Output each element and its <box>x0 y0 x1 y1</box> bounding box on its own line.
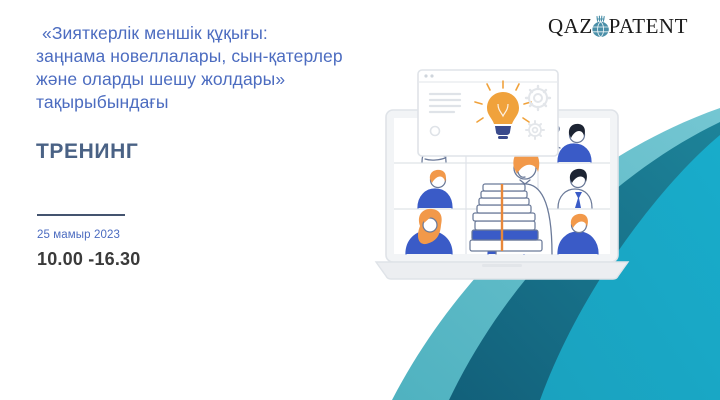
qazpatent-logo: QAZ PATENT <box>548 14 688 38</box>
logo-text-left: QAZ <box>548 16 593 37</box>
idea-browser-window <box>418 70 558 156</box>
title-line-2: заңнама новеллалары, сын-қатерлер <box>36 45 366 68</box>
shanyrak-globe-mark-icon <box>590 15 612 39</box>
event-type-heading: ТРЕНИНГ <box>36 140 138 164</box>
event-date: 25 мамыр 2023 <box>37 229 120 241</box>
title-line-3: және оларды шешу жолдары» <box>36 68 366 91</box>
logo-text-right: PATENT <box>609 16 688 37</box>
event-time: 10.00 -16.30 <box>37 249 140 270</box>
title-line-1: «Зияткерлік меншік құқығы: <box>36 22 366 45</box>
presentation-slide: QAZ PATENT <box>0 0 720 400</box>
window-dot-1 <box>424 74 427 77</box>
online-training-illustration <box>372 68 632 288</box>
title-line-4: тақырыбындағы <box>36 91 366 114</box>
window-dot-2 <box>430 74 433 77</box>
divider <box>37 214 125 216</box>
page-title: «Зияткерлік меншік құқығы: заңнама новел… <box>36 22 366 114</box>
